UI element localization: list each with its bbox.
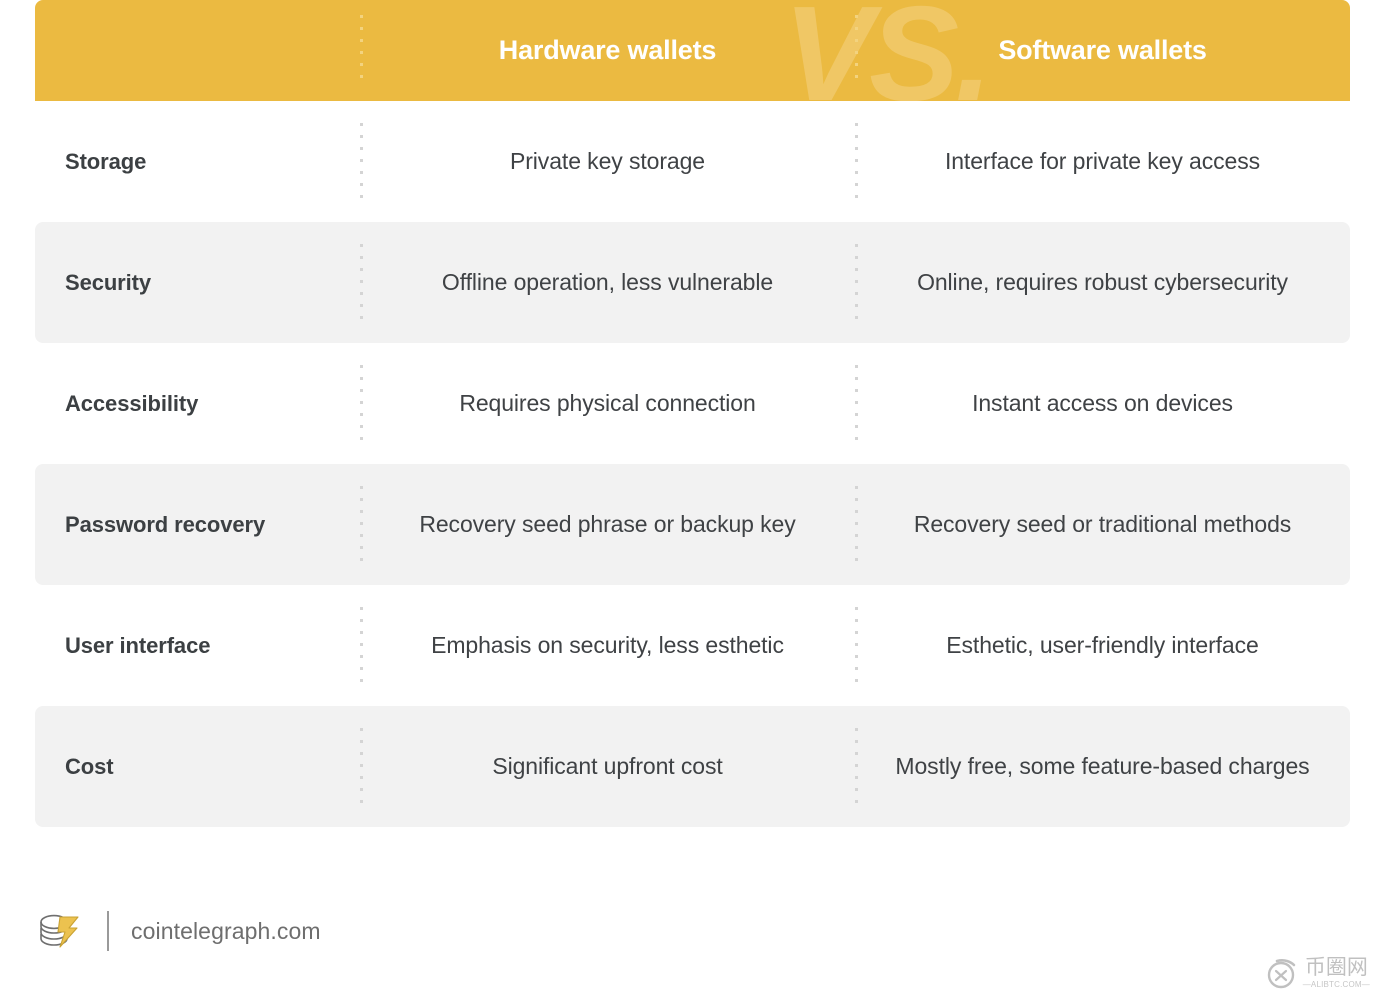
- row-label: Accessibility: [35, 343, 360, 464]
- cell-software: Mostly free, some feature-based charges: [855, 706, 1350, 827]
- alibtc-watermark-cn: 币圈网: [1305, 957, 1368, 978]
- table-row: User interface Emphasis on security, les…: [35, 585, 1350, 706]
- row-divider-2: [855, 486, 858, 564]
- cell-software: Online, requires robust cybersecurity: [855, 222, 1350, 343]
- row-divider-1: [360, 607, 363, 685]
- alibtc-watermark-text-group: 币圈网 —ALIBTC.COM—: [1303, 957, 1370, 989]
- footer: cointelegraph.com: [35, 900, 321, 962]
- row-divider-2: [855, 123, 858, 201]
- row-label: Cost: [35, 706, 360, 827]
- row-divider-1: [360, 365, 363, 443]
- row-divider-2: [855, 728, 858, 806]
- row-divider-1: [360, 123, 363, 201]
- cell-hardware: Emphasis on security, less esthetic: [360, 585, 855, 706]
- cell-software: Interface for private key access: [855, 101, 1350, 222]
- cell-software: Instant access on devices: [855, 343, 1350, 464]
- cell-hardware: Requires physical connection: [360, 343, 855, 464]
- row-label: Password recovery: [35, 464, 360, 585]
- cell-hardware: Private key storage: [360, 101, 855, 222]
- row-label: Security: [35, 222, 360, 343]
- row-label: User interface: [35, 585, 360, 706]
- table-row: Storage Private key storage Interface fo…: [35, 101, 1350, 222]
- row-divider-2: [855, 607, 858, 685]
- footer-url[interactable]: cointelegraph.com: [131, 918, 321, 945]
- alibtc-watermark: 币圈网 —ALIBTC.COM—: [1265, 956, 1370, 990]
- cell-software: Esthetic, user-friendly interface: [855, 585, 1350, 706]
- table-row: Security Offline operation, less vulnera…: [35, 222, 1350, 343]
- row-divider-2: [855, 365, 858, 443]
- header-divider-2: [855, 15, 858, 87]
- comparison-table: VS. Hardware wallets Software wallets St…: [35, 0, 1350, 827]
- table-row: Accessibility Requires physical connecti…: [35, 343, 1350, 464]
- table-row: Cost Significant upfront cost Mostly fre…: [35, 706, 1350, 827]
- row-divider-1: [360, 486, 363, 564]
- header-corner-cell: [35, 0, 360, 101]
- table-row: Password recovery Recovery seed phrase o…: [35, 464, 1350, 585]
- cell-software: Recovery seed or traditional methods: [855, 464, 1350, 585]
- footer-divider: [107, 911, 109, 951]
- column-header-hardware: Hardware wallets: [360, 0, 855, 101]
- row-label: Storage: [35, 101, 360, 222]
- table-header-row: VS. Hardware wallets Software wallets: [35, 0, 1350, 101]
- alibtc-logo-icon: [1265, 956, 1299, 990]
- column-header-software: Software wallets: [855, 0, 1350, 101]
- row-divider-1: [360, 244, 363, 322]
- cell-hardware: Offline operation, less vulnerable: [360, 222, 855, 343]
- alibtc-watermark-en: —ALIBTC.COM—: [1303, 981, 1370, 989]
- cell-hardware: Recovery seed phrase or backup key: [360, 464, 855, 585]
- row-divider-1: [360, 728, 363, 806]
- cointelegraph-logo-icon: [35, 909, 83, 953]
- cell-hardware: Significant upfront cost: [360, 706, 855, 827]
- header-divider-1: [360, 15, 363, 87]
- row-divider-2: [855, 244, 858, 322]
